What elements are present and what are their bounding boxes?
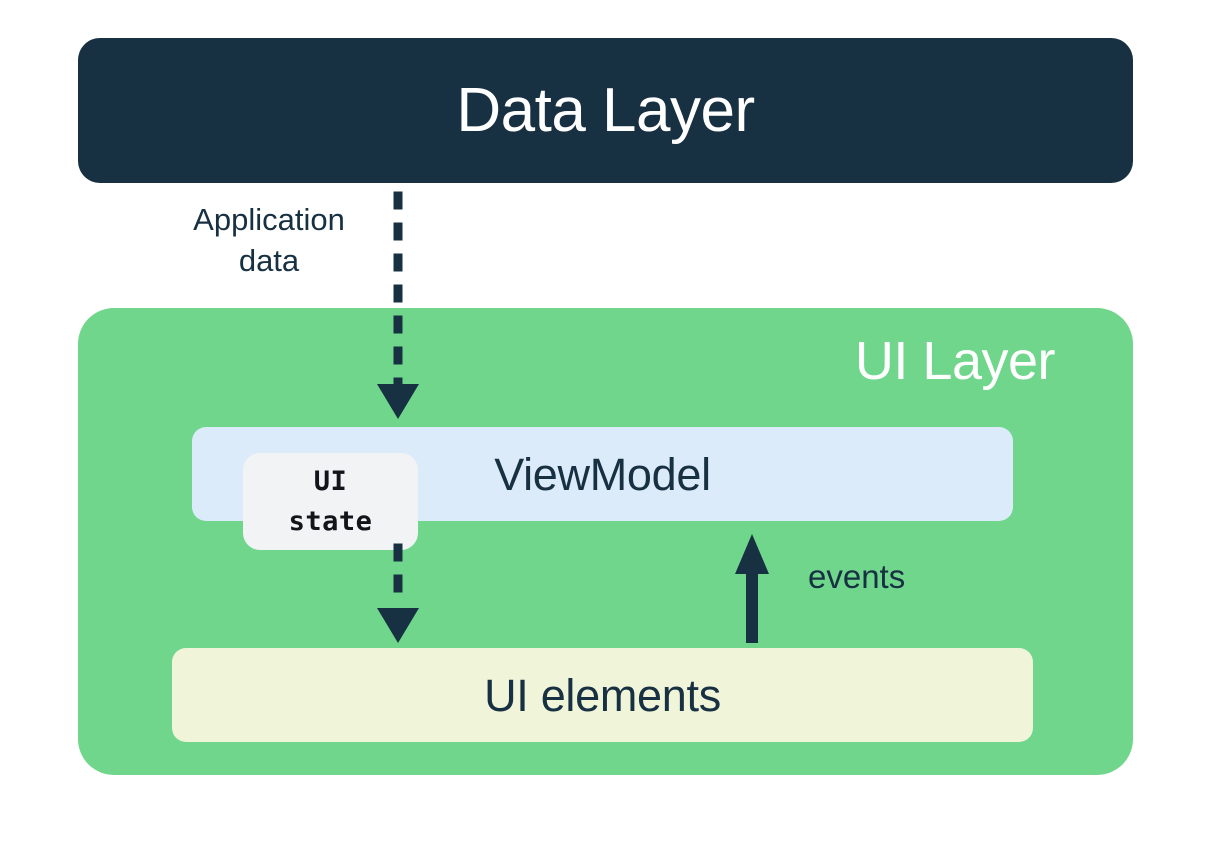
application-data-label-line1: Application: [158, 200, 380, 241]
ui-state-chip: UI state: [243, 453, 418, 550]
viewmodel-label: ViewModel: [494, 452, 711, 497]
ui-layer-title: UI Layer: [855, 334, 1055, 388]
events-label: events: [808, 560, 905, 593]
data-layer-box: Data Layer: [78, 38, 1133, 183]
ui-elements-label: UI elements: [484, 673, 721, 718]
ui-layer-architecture-diagram: Data Layer Application data UI Layer Vie…: [0, 0, 1218, 852]
ui-state-chip-line2: state: [289, 502, 373, 541]
data-layer-title: Data Layer: [456, 80, 754, 142]
application-data-label-line2: data: [158, 241, 380, 282]
ui-elements-box: UI elements: [172, 648, 1033, 742]
application-data-label: Application data: [158, 200, 380, 282]
ui-state-chip-line1: UI: [314, 462, 348, 501]
ui-layer-panel: UI Layer ViewModel UI state UI elements: [78, 308, 1133, 775]
